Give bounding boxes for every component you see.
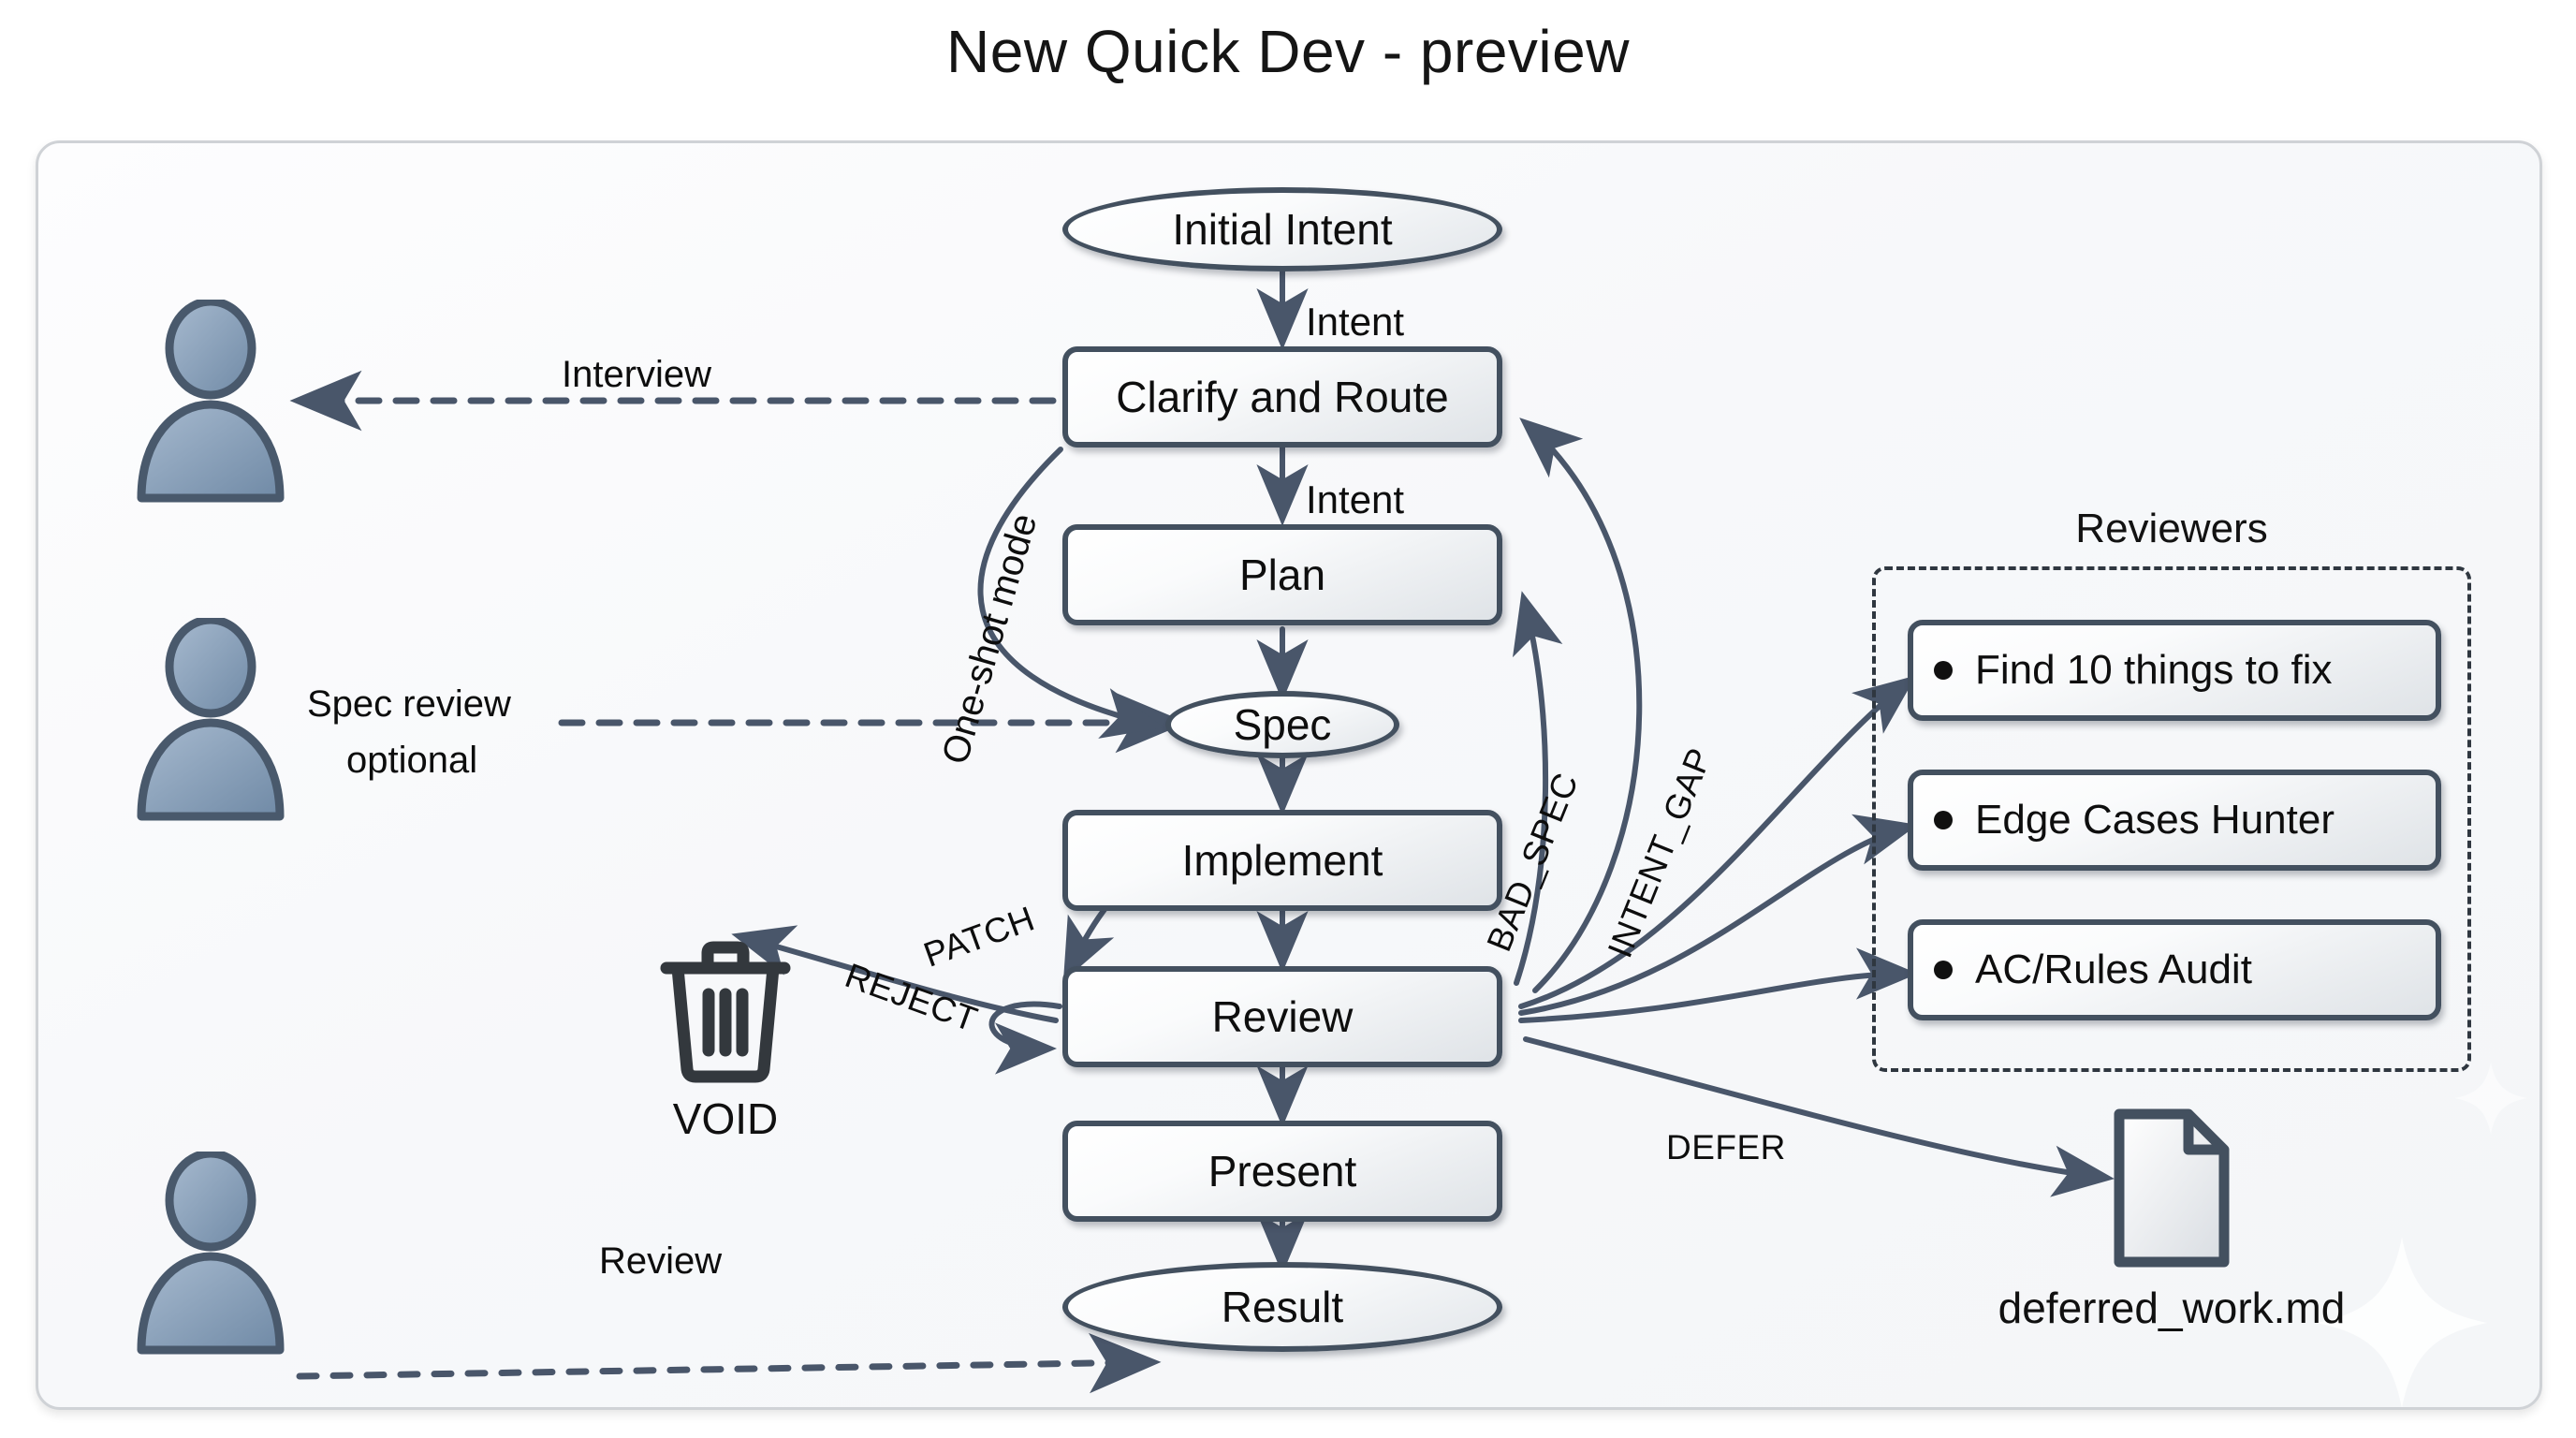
actor-result-reviewer[interactable] (126, 1152, 295, 1362)
reviewer-item-ac-rules-audit[interactable]: AC/Rules Audit (1908, 919, 2441, 1020)
page-title: New Quick Dev - preview (0, 17, 2576, 86)
void-label: VOID (618, 1093, 833, 1144)
node-plan[interactable]: Plan (1062, 524, 1502, 625)
node-spec[interactable]: Spec (1165, 691, 1399, 758)
reviewers-group-label: Reviewers (1891, 506, 2452, 552)
node-initial-intent[interactable]: Initial Intent (1062, 187, 1502, 271)
node-review[interactable]: Review (1062, 966, 1502, 1067)
edge-label-intent-top: Intent (1306, 300, 1404, 345)
node-label: Present (1208, 1146, 1357, 1196)
deferred-work-artifact[interactable] (2106, 1105, 2237, 1278)
reviewer-item-find-10-things-to-fix[interactable]: Find 10 things to fix (1908, 620, 2441, 721)
node-label: Implement (1182, 835, 1383, 886)
edge-label-spec-review-line2: optional (346, 740, 477, 782)
bullet-icon (1934, 811, 1953, 829)
file-icon (2106, 1105, 2237, 1273)
node-label: Result (1222, 1282, 1343, 1332)
node-label: Review (1212, 991, 1354, 1042)
node-label: Clarify and Route (1116, 372, 1448, 422)
edge-label-defer: DEFER (1666, 1128, 1786, 1167)
node-clarify-and-route[interactable]: Clarify and Route (1062, 346, 1502, 448)
sparkle-watermark-small (2453, 1061, 2528, 1136)
node-result[interactable]: Result (1062, 1262, 1502, 1352)
diagram-canvas: New Quick Dev - preview (0, 0, 2576, 1438)
actor-spec-reviewer[interactable] (126, 618, 295, 829)
trash-icon (655, 936, 796, 1086)
node-implement[interactable]: Implement (1062, 810, 1502, 911)
deferred-work-label: deferred_work.md (1928, 1283, 2415, 1333)
edge-label-intent-mid: Intent (1306, 477, 1404, 522)
bullet-icon (1934, 961, 1953, 979)
user-icon (126, 300, 295, 506)
reviewer-label: Edge Cases Hunter (1975, 797, 2334, 844)
edge-label-review-bottom: Review (599, 1240, 722, 1283)
node-label: Initial Intent (1172, 204, 1392, 255)
user-icon (126, 1152, 295, 1357)
user-icon (126, 618, 295, 824)
reviewer-item-edge-cases-hunter[interactable]: Edge Cases Hunter (1908, 770, 2441, 871)
bullet-icon (1934, 661, 1953, 680)
edge-label-interview: Interview (562, 354, 711, 396)
node-label: Plan (1239, 550, 1325, 600)
reviewer-label: Find 10 things to fix (1975, 647, 2333, 694)
void-artifact[interactable] (655, 936, 796, 1091)
node-label: Spec (1234, 699, 1332, 750)
node-present[interactable]: Present (1062, 1121, 1502, 1222)
reviewer-label: AC/Rules Audit (1975, 946, 2252, 993)
actor-interviewee[interactable] (126, 300, 295, 510)
edge-label-spec-review-line1: Spec review (307, 683, 511, 726)
